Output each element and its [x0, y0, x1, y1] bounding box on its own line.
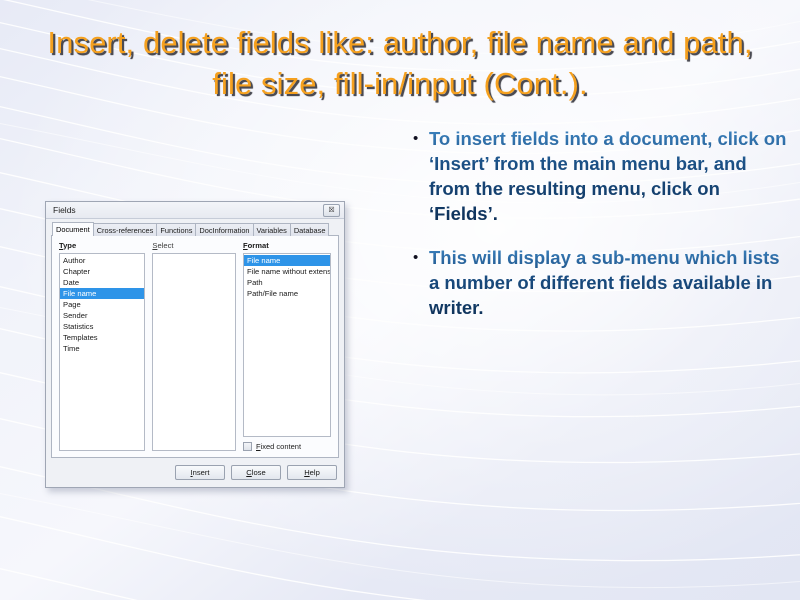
- tab-docinformation[interactable]: DocInformation: [195, 223, 253, 236]
- fixed-content-label-rest: ixed content: [261, 442, 301, 451]
- tab-cross-references[interactable]: Cross-references: [93, 223, 158, 236]
- dialog-body: Document Cross-references Functions DocI…: [46, 219, 344, 487]
- bullet-list: • To insert fields into a document, clic…: [410, 126, 790, 339]
- list-item[interactable]: Time: [60, 343, 144, 354]
- list-item[interactable]: Page: [60, 299, 144, 310]
- bullet-marker-icon: •: [410, 126, 429, 151]
- close-button[interactable]: Close: [231, 465, 281, 480]
- list-item[interactable]: Statistics: [60, 321, 144, 332]
- slide-canvas: Insert, delete fields like: author, file…: [0, 0, 800, 600]
- fixed-content-label: Fixed content: [256, 442, 301, 451]
- list-item: • To insert fields into a document, clic…: [410, 126, 790, 226]
- list-item[interactable]: Path: [244, 277, 330, 288]
- format-column-label: Format: [243, 241, 331, 250]
- list-item[interactable]: Sender: [60, 310, 144, 321]
- fixed-content-row[interactable]: Fixed content: [243, 441, 331, 451]
- help-button[interactable]: Help: [287, 465, 337, 480]
- select-label-rest: elect: [157, 241, 173, 250]
- bullet-text: To insert fields into a document, click …: [429, 126, 790, 226]
- type-listbox[interactable]: Author Chapter Date File name Page Sende…: [59, 253, 145, 451]
- list-item[interactable]: Author: [60, 255, 144, 266]
- dialog-tabstrip: Document Cross-references Functions DocI…: [52, 223, 339, 236]
- tab-variables[interactable]: Variables: [253, 223, 291, 236]
- type-column: Type Author Chapter Date File name Page …: [59, 241, 145, 451]
- list-item[interactable]: Date: [60, 277, 144, 288]
- fields-dialog: Fields ☒ Document Cross-references Funct…: [45, 201, 345, 488]
- insert-button[interactable]: Insert: [175, 465, 225, 480]
- select-listbox[interactable]: [152, 253, 236, 451]
- dialog-columns: Type Author Chapter Date File name Page …: [59, 241, 331, 451]
- dialog-titlebar: Fields ☒: [46, 202, 344, 219]
- tab-functions[interactable]: Functions: [156, 223, 196, 236]
- bullet-text: This will display a sub-menu which lists…: [429, 245, 790, 320]
- format-label-rest: ormat: [248, 241, 269, 250]
- list-item[interactable]: Templates: [60, 332, 144, 343]
- close-label-rest: lose: [252, 468, 266, 477]
- format-column-body: File name File name without extension Pa…: [243, 253, 331, 451]
- dialog-button-bar: Insert Close Help: [51, 458, 339, 482]
- list-item-selected[interactable]: File name: [244, 255, 330, 266]
- close-icon[interactable]: ☒: [323, 204, 340, 217]
- tab-database[interactable]: Database: [290, 223, 330, 236]
- dialog-title: Fields: [53, 205, 323, 215]
- format-listbox[interactable]: File name File name without extension Pa…: [243, 253, 331, 437]
- format-column: Format File name File name without exten…: [243, 241, 331, 451]
- bullet-marker-icon: •: [410, 245, 429, 270]
- tab-panel-document: Type Author Chapter Date File name Page …: [51, 235, 339, 458]
- list-item: • This will display a sub-menu which lis…: [410, 245, 790, 320]
- list-item-selected[interactable]: File name: [60, 288, 144, 299]
- list-item[interactable]: File name without extension: [244, 266, 330, 277]
- select-column: Select: [152, 241, 236, 451]
- page-title: Insert, delete fields like: author, file…: [35, 22, 765, 104]
- insert-label-rest: nsert: [193, 468, 210, 477]
- type-column-label: Type: [59, 241, 145, 250]
- help-label-rest: elp: [310, 468, 320, 477]
- tab-document[interactable]: Document: [52, 222, 94, 236]
- select-column-label: Select: [152, 241, 236, 250]
- type-label-rest: ype: [63, 241, 76, 250]
- list-item[interactable]: Path/File name: [244, 288, 330, 299]
- list-item[interactable]: Chapter: [60, 266, 144, 277]
- page-title-block: Insert, delete fields like: author, file…: [35, 22, 765, 104]
- fixed-content-checkbox[interactable]: [243, 442, 252, 451]
